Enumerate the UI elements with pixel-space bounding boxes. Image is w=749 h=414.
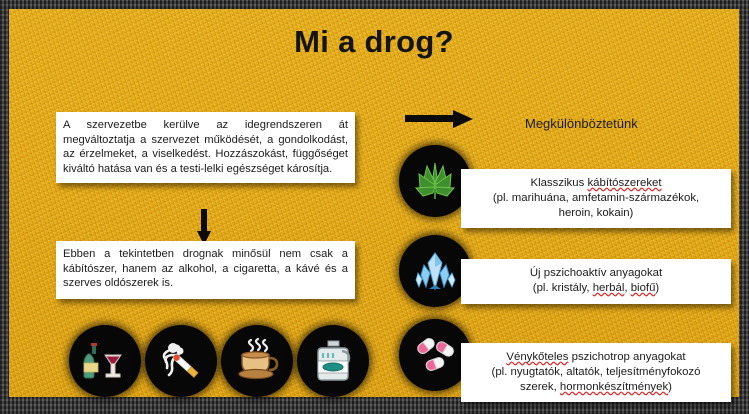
arrow-down-icon [197, 209, 211, 245]
cigarette-smoke-icon [145, 325, 217, 397]
category-nps-line2: (pl. kristály, herbál, biofű) [469, 281, 723, 296]
category-rx-line2: (pl. nyugtatók, altatók, teljesítményfok… [469, 365, 723, 380]
presentation-slide: Mi a drog? A szervezetbe kerülve az ideg… [0, 0, 749, 414]
scope-text: Ebben a tekintetben drognak minősül nem … [63, 248, 348, 289]
misspelled-word: herbál [593, 282, 625, 294]
category-classic-line1: Klasszikus kábítószereket [469, 176, 723, 191]
category-nps-line1: Új pszichoaktív anyagokat [469, 266, 723, 281]
category-rx-line1: Vénykőteles pszichotrop anyagokat [469, 350, 723, 365]
misspelled-word: hormonkészítmények [560, 381, 668, 393]
misspelled-word: Vénykőteles [506, 351, 568, 363]
arrow-right-icon [405, 110, 473, 128]
category-card-new-psychoactive: Új pszichoaktív anyagokat (pl. kristály,… [461, 259, 731, 304]
solvent-jug-icon [297, 325, 369, 397]
category-classic-line2: (pl. marihuána, amfetamin-származékok, [469, 191, 723, 206]
scope-card: Ebben a tekintetben drognak minősül nem … [56, 241, 355, 299]
slide-canvas: Mi a drog? A szervezetbe kerülve az ideg… [9, 9, 739, 397]
page-title: Mi a drog? [9, 25, 739, 59]
misspelled-word: biofű [631, 282, 656, 294]
coffee-cup-icon [221, 325, 293, 397]
alcohol-bottle-glass-icon [69, 325, 141, 397]
category-rx-line3: szerek, hormonkészítmények) [469, 380, 723, 395]
category-card-prescription: Vénykőteles pszichotrop anyagokat (pl. n… [461, 343, 731, 402]
definition-card: A szervezetbe kerülve az idegrendszeren … [56, 112, 355, 183]
misspelled-word: kábítószereket [587, 177, 661, 189]
distinguish-label: Megkülönböztetünk [525, 116, 638, 131]
category-card-classic-drugs: Klasszikus kábítószereket (pl. marihuána… [461, 169, 731, 228]
category-classic-line3: heroin, kokain) [469, 206, 723, 221]
definition-text: A szervezetbe kerülve az idegrendszeren … [63, 119, 348, 175]
